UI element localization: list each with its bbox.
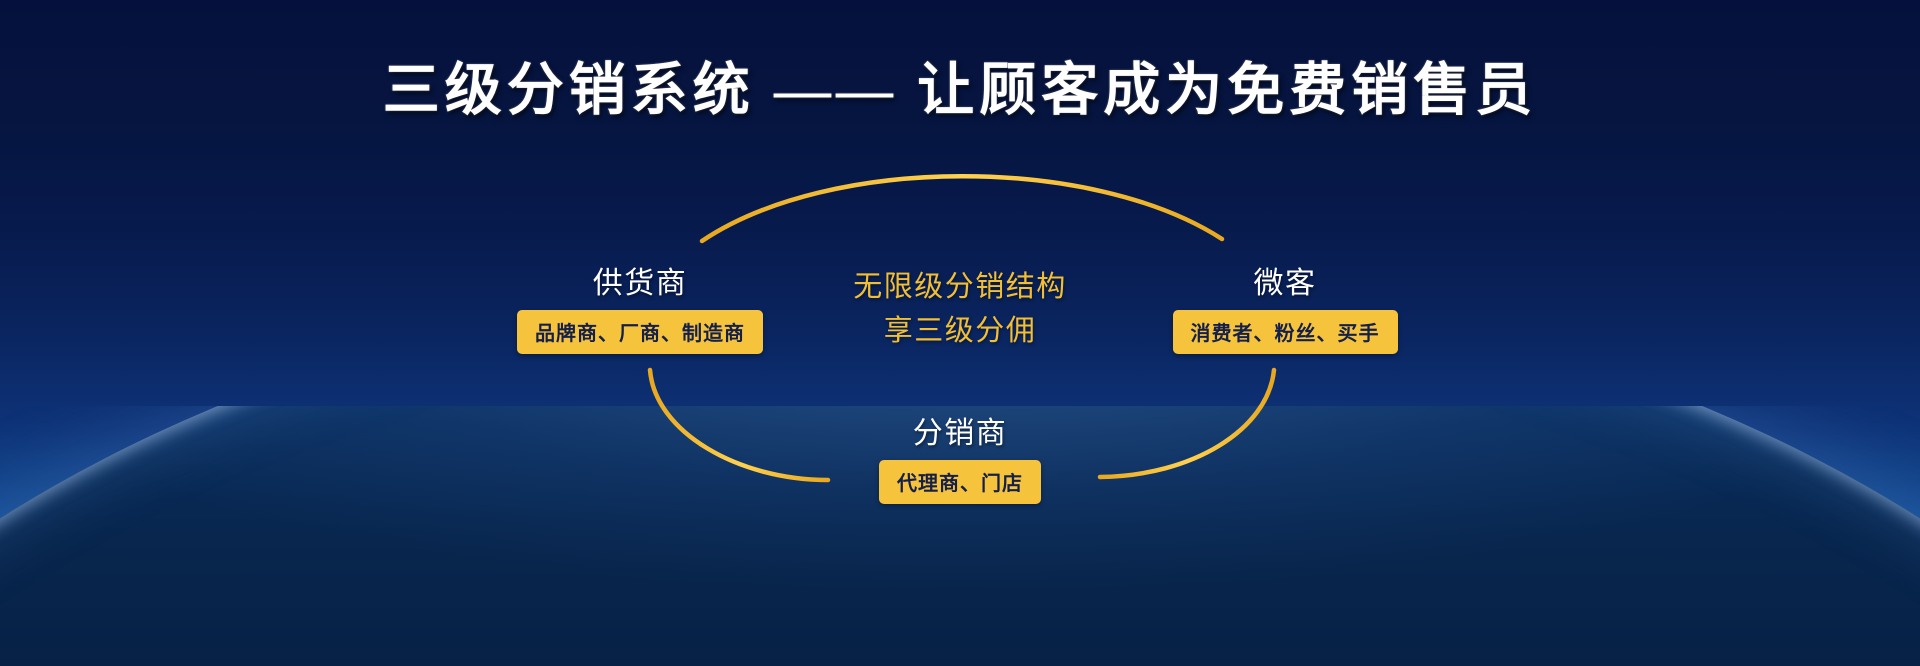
arc-supplier-to-weike bbox=[702, 176, 1222, 241]
node-supplier: 供货商 品牌商、厂商、制造商 bbox=[470, 258, 810, 354]
center-caption: 无限级分销结构 享三级分佣 bbox=[790, 265, 1130, 353]
promo-banner: 三级分销系统 —— 让顾客成为免费销售员 供货商 品牌商、厂商、制造商 微 bbox=[0, 0, 1920, 666]
node-weike: 微客 消费者、粉丝、买手 bbox=[1115, 258, 1455, 354]
node-distributor-badge: 代理商、门店 bbox=[879, 460, 1041, 504]
center-caption-line-1: 无限级分销结构 bbox=[790, 265, 1130, 309]
node-supplier-badge: 品牌商、厂商、制造商 bbox=[517, 310, 763, 354]
node-distributor: 分销商 代理商、门店 bbox=[790, 408, 1130, 504]
node-distributor-title: 分销商 bbox=[790, 408, 1130, 452]
center-caption-line-2: 享三级分佣 bbox=[790, 309, 1130, 353]
node-supplier-title: 供货商 bbox=[470, 258, 810, 302]
node-weike-title: 微客 bbox=[1115, 258, 1455, 302]
distribution-diagram: 供货商 品牌商、厂商、制造商 微客 消费者、粉丝、买手 分销商 代理商、门店 无… bbox=[0, 0, 1920, 666]
node-weike-badge: 消费者、粉丝、买手 bbox=[1173, 310, 1398, 354]
